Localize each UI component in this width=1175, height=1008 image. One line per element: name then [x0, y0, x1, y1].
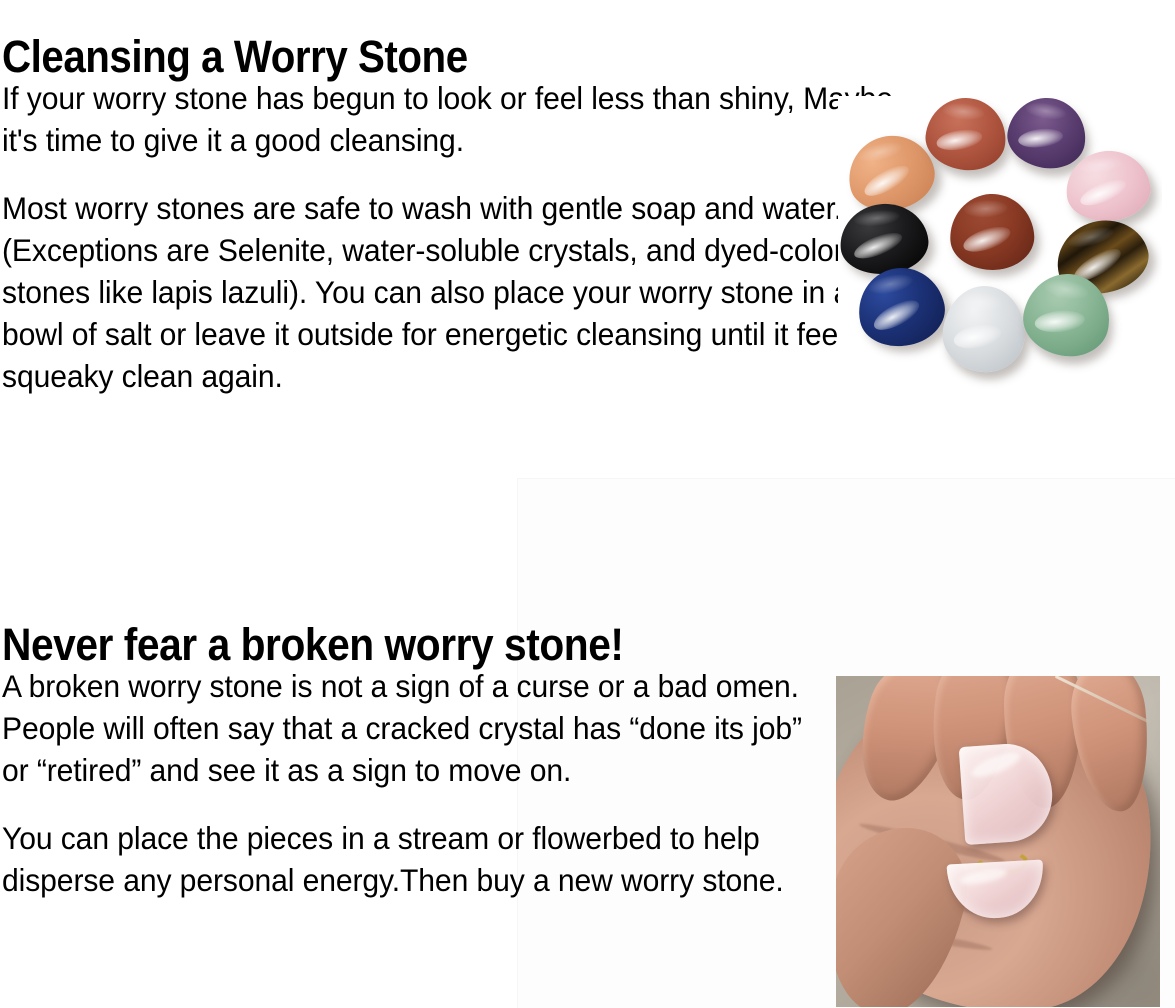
worry-stones-ring-photo: [838, 96, 1162, 414]
page-title-broken: Never fear a broken worry stone!: [2, 622, 624, 667]
broken-worry-stone-in-hand-photo: [836, 676, 1160, 1007]
broken-paragraph-1: A broken worry stone is not a sign of a …: [2, 665, 833, 791]
lapis-lazuli-stone: [851, 260, 951, 354]
broken-paragraph-2: You can place the pieces in a stream or …: [2, 817, 833, 901]
cleansing-paragraph-1: If your worry stone has begun to look or…: [2, 77, 919, 161]
cleansing-body-text: If your worry stone has begun to look or…: [2, 77, 919, 397]
red-agate-stone: [948, 192, 1036, 272]
broken-body-text: A broken worry stone is not a sign of a …: [2, 665, 833, 901]
page-title-cleansing: Cleansing a Worry Stone: [2, 34, 468, 79]
carnelian-stone: [922, 96, 1009, 174]
black-obsidian-stone: [838, 200, 931, 279]
amethyst-stone: [1003, 96, 1091, 174]
clear-quartz-stone: [940, 283, 1028, 375]
cleansing-paragraph-2: Most worry stones are safe to wash with …: [2, 187, 919, 397]
